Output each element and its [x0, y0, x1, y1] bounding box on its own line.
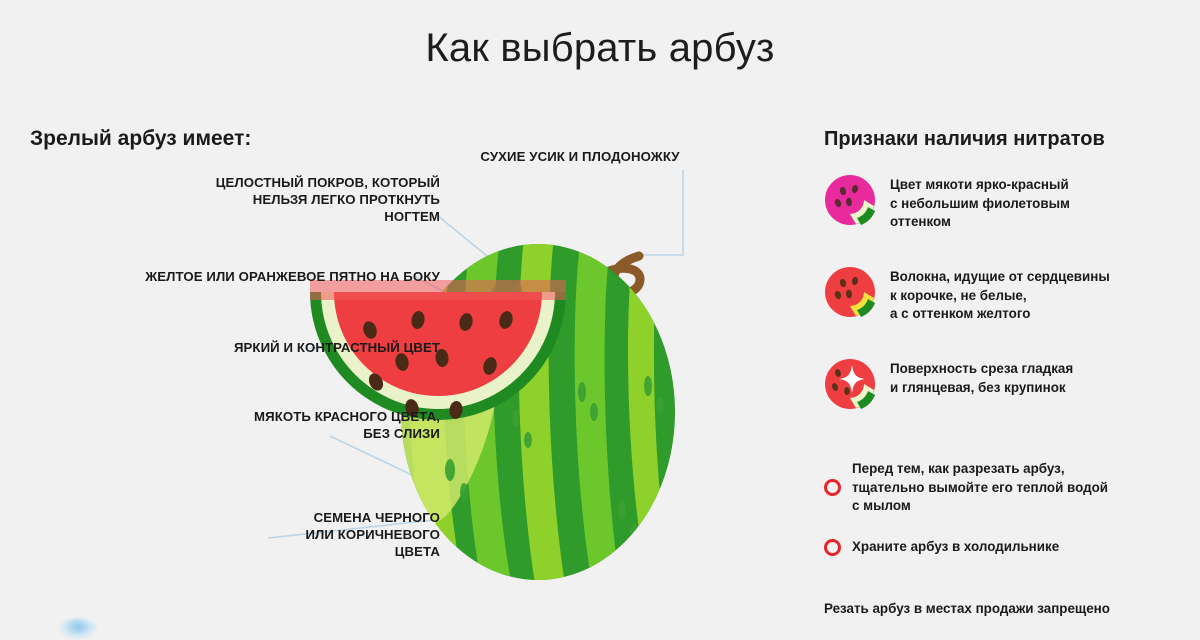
nitrate-sign-item: Цвет мякоти ярко-красный с небольшим фио… — [824, 174, 1070, 232]
callout-bright-color: ЯРКИЙ И КОНТРАСТНЫЙ ЦВЕТ — [60, 339, 440, 356]
footer-note: Резать арбуз в местах продажи запрещено — [824, 601, 1110, 616]
red-ring-bullet-icon — [824, 479, 841, 496]
tip-item: Перед тем, как разрезать арбуз, тщательн… — [824, 460, 1108, 516]
nitrate-sign-text: Цвет мякоти ярко-красный с небольшим фио… — [890, 174, 1070, 232]
watermelon-slice-yellow-rind-icon — [824, 266, 876, 318]
watermelon-slice-glossy-icon — [824, 358, 876, 410]
corner-watermark — [58, 618, 98, 640]
watermelon-slice-magenta-icon — [824, 174, 876, 226]
tip-item: Храните арбуз в холодильнике — [824, 538, 1059, 557]
callout-yellow-spot: ЖЕЛТОЕ ИЛИ ОРАНЖЕВОЕ ПЯТНО НА БОКУ — [60, 268, 440, 285]
infographic-canvas: Как выбрать арбуз Зрелый арбуз имеет: Пр… — [0, 0, 1200, 628]
nitrate-sign-text: Поверхность среза гладкая и глянцевая, б… — [890, 358, 1073, 397]
callout-cover: ЦЕЛОСТНЫЙ ПОКРОВ, КОТОРЫЙ НЕЛЬЗЯ ЛЕГКО П… — [90, 174, 440, 225]
nitrate-sign-text: Волокна, идущие от сердцевины к корочке,… — [890, 266, 1110, 324]
tip-text: Перед тем, как разрезать арбуз, тщательн… — [852, 460, 1108, 516]
callout-dry-stem: СУХИЕ УСИК И ПЛОДОНОЖКУ — [430, 148, 730, 165]
nitrate-sign-item: Волокна, идущие от сердцевины к корочке,… — [824, 266, 1110, 324]
tip-text: Храните арбуз в холодильнике — [852, 538, 1059, 557]
callout-red-flesh: МЯКОТЬ КРАСНОГО ЦВЕТА, БЕЗ СЛИЗИ — [60, 408, 440, 442]
red-ring-bullet-icon — [824, 539, 841, 556]
callout-dark-seeds: СЕМЕНА ЧЕРНОГО ИЛИ КОРИЧНЕВОГО ЦВЕТА — [60, 509, 440, 560]
nitrate-sign-item: Поверхность среза гладкая и глянцевая, б… — [824, 358, 1073, 410]
